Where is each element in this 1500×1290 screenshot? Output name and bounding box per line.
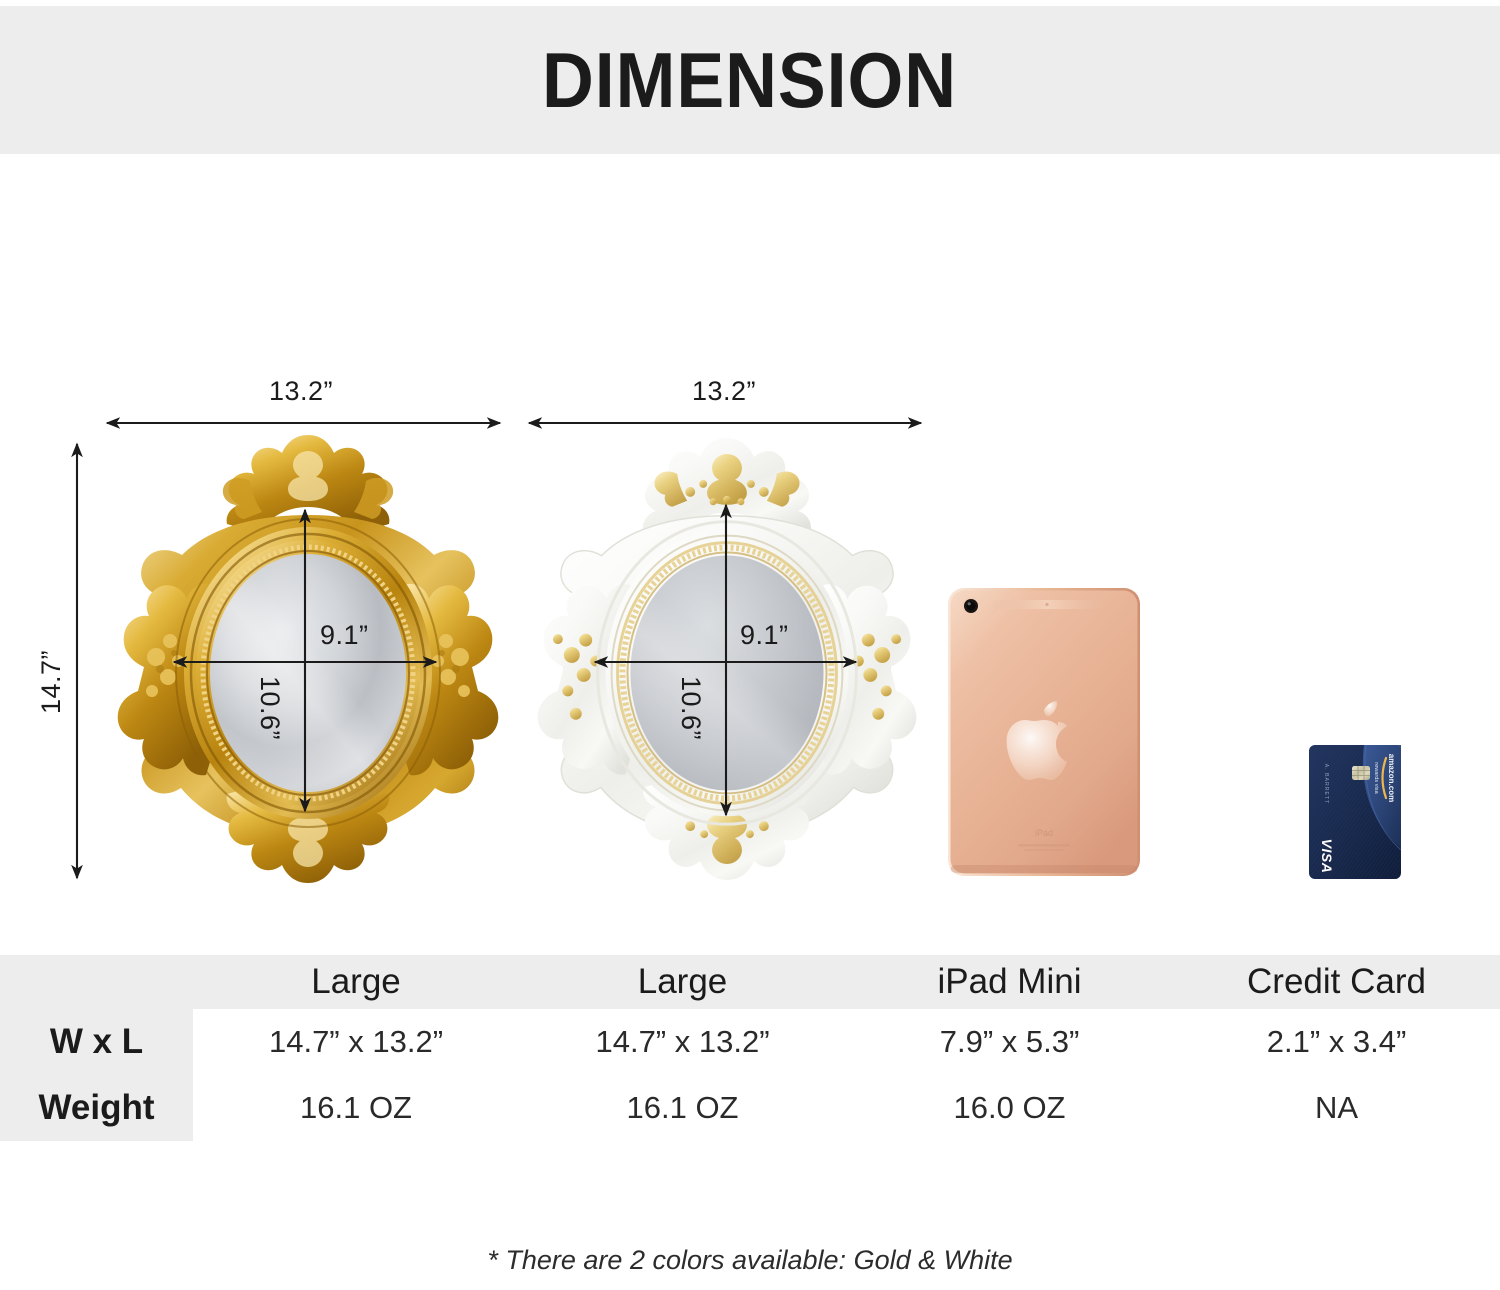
row-label-weight: Weight	[0, 1075, 193, 1141]
cell-weight-2: 16.0 OZ	[846, 1075, 1173, 1141]
column-header-1: Large	[519, 955, 846, 1009]
ipad-mini: iPad	[946, 586, 1142, 878]
credit-card: amazon.com rewards visa A. B	[1308, 744, 1402, 880]
product-comparison-stage: iPad	[0, 154, 1500, 950]
column-header-2: iPad Mini	[846, 955, 1173, 1009]
cell-weight-3: NA	[1173, 1075, 1500, 1141]
page-title: DIMENSION	[543, 41, 958, 119]
card-brand-amazon: amazon.com	[1387, 754, 1396, 802]
emv-chip-icon	[1352, 766, 1370, 780]
column-header-0: Large	[193, 955, 519, 1009]
card-program-label: rewards visa	[1373, 762, 1379, 794]
gold-inner-width-label: 9.1”	[320, 620, 369, 651]
ipad-graphic: iPad	[946, 586, 1142, 878]
visa-wordmark: VISA	[1319, 839, 1335, 874]
cell-wxl-3: 2.1” x 3.4”	[1173, 1009, 1500, 1075]
header-band: DIMENSION	[0, 6, 1500, 154]
table-row-wxl: W x L 14.7” x 13.2” 14.7” x 13.2” 7.9” x…	[0, 1009, 1500, 1075]
card-holder-name: A. BARRETT	[1323, 764, 1329, 805]
ipad-wordmark: iPad	[1035, 828, 1053, 838]
white-oval-mirror	[528, 429, 926, 889]
color-availability-footnote: * There are 2 colors available: Gold & W…	[0, 1245, 1500, 1276]
white-inner-height-label: 10.6”	[675, 676, 706, 740]
dimension-infographic: DIMENSION	[0, 0, 1500, 1290]
cell-wxl-0: 14.7” x 13.2”	[193, 1009, 519, 1075]
gold-height-label: 14.7”	[36, 650, 67, 714]
gold-mirror-graphic	[108, 429, 508, 889]
white-width-label: 13.2”	[692, 376, 756, 407]
cell-weight-0: 16.1 OZ	[193, 1075, 519, 1141]
white-inner-width-label: 9.1”	[740, 620, 789, 651]
cell-weight-1: 16.1 OZ	[519, 1075, 846, 1141]
table-header-row: Large Large iPad Mini Credit Card	[0, 955, 1500, 1009]
white-mirror-graphic	[528, 429, 926, 889]
column-header-3: Credit Card	[1173, 955, 1500, 1009]
row-label-wxl: W x L	[0, 1009, 193, 1075]
gold-width-label: 13.2”	[269, 376, 333, 407]
camera-icon	[962, 597, 980, 615]
ipad-regulatory-text	[1018, 844, 1070, 847]
gold-oval-mirror	[108, 429, 508, 889]
table-corner-cell	[0, 955, 193, 1009]
credit-card-graphic: amazon.com rewards visa A. B	[1308, 744, 1402, 880]
table-row-weight: Weight 16.1 OZ 16.1 OZ 16.0 OZ NA	[0, 1075, 1500, 1141]
spec-table: Large Large iPad Mini Credit Card W x L …	[0, 955, 1500, 1141]
cell-wxl-2: 7.9” x 5.3”	[846, 1009, 1173, 1075]
gold-inner-height-label: 10.6”	[254, 676, 285, 740]
cell-wxl-1: 14.7” x 13.2”	[519, 1009, 846, 1075]
